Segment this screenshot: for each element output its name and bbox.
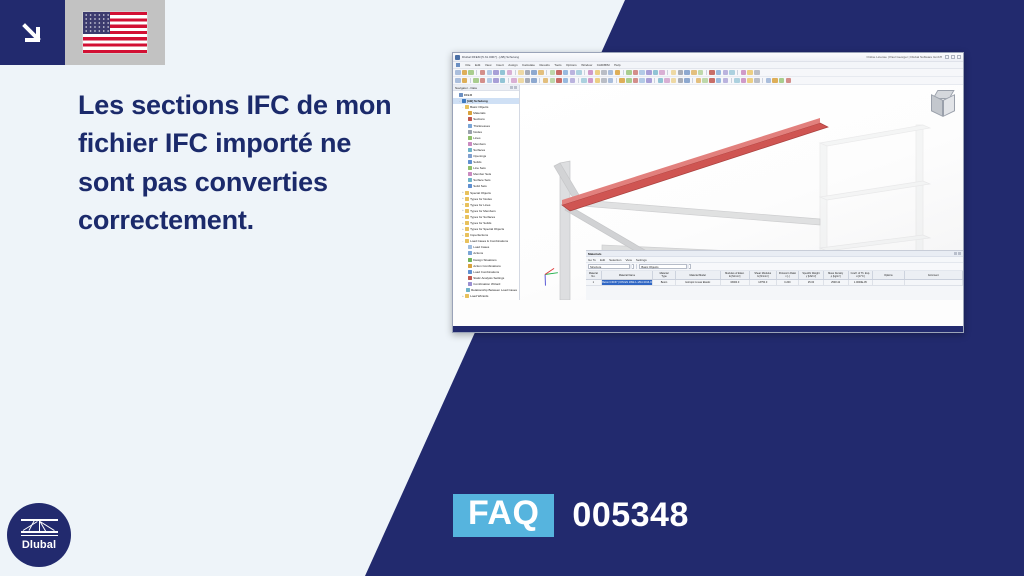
toolbar-button-34-icon[interactable] [709, 70, 715, 76]
toolbar-separator [654, 78, 655, 83]
column-header-2[interactable]: MaterialType [653, 271, 675, 279]
toolbar-button-1-icon[interactable] [455, 78, 461, 84]
view-cube-icon[interactable] [931, 90, 957, 116]
window-title: Dlubal RFEM [5.31.0007] - [AB] Schulung [462, 55, 519, 59]
table-header-row: MaterialNo.Material NameMaterialTypeMate… [586, 271, 963, 280]
toolbar-button-34-icon[interactable] [709, 78, 715, 84]
toolbar-button-29-icon[interactable] [671, 78, 677, 84]
tree-item-icon [465, 191, 469, 195]
object-type-select[interactable]: Basic Objects [639, 264, 691, 270]
toolbar-button-8-icon[interactable] [507, 70, 513, 76]
dlubal-logo: Dlubal [7, 503, 71, 567]
column-header-line1: Material Name [619, 274, 635, 277]
tree-item-label: Combination Wizard [473, 282, 500, 286]
toolbar-button-43-icon[interactable] [779, 78, 785, 84]
toolbar-button-28-icon[interactable] [664, 78, 670, 84]
table-cell[interactable]: 1.0000E-05 [849, 280, 874, 286]
toolbar-separator [578, 78, 579, 83]
toolbar-button-13-icon[interactable] [550, 70, 556, 76]
toolbar-button-2-icon[interactable] [462, 70, 468, 76]
toolbar-button-35-icon[interactable] [716, 78, 722, 84]
toolbar-separator [470, 78, 471, 83]
menu-insert[interactable]: Insert [496, 63, 504, 67]
toolbar-button-28-icon[interactable] [659, 70, 665, 76]
flag-graphic [83, 12, 147, 53]
toolbar-button-29-icon[interactable] [671, 70, 677, 76]
table-menu-view[interactable]: View [625, 258, 631, 262]
tree-item-label: Surfaces [473, 148, 485, 152]
tree-item-icon [468, 245, 472, 249]
toolbar-button-3-icon[interactable] [468, 70, 474, 76]
toolbar-button-12-icon[interactable] [538, 70, 544, 76]
column-header-6[interactable]: Poisson's Ratioν [-] [777, 271, 799, 279]
toolbar-button-40-icon[interactable] [754, 78, 760, 84]
tree-item-icon [468, 154, 472, 158]
table-toolbar[interactable]: Structure Basic Objects [586, 263, 963, 271]
toolbar-button-18-icon[interactable] [588, 78, 594, 84]
table-menu-settings[interactable]: Settings [636, 258, 647, 262]
table-row[interactable]: 1Beton C30/37 | DIN EN 1992-1-1/NA:2013-… [586, 280, 963, 286]
tree-item-icon [459, 93, 463, 97]
menu-window[interactable]: Window [581, 63, 592, 67]
chevron-down-icon[interactable] [629, 264, 632, 269]
tree-item-icon [468, 130, 472, 134]
toolbar-separator [706, 70, 707, 75]
toolbar-button-19-icon[interactable] [595, 78, 601, 84]
tree-item-label: Types for Surfaces [470, 215, 495, 219]
column-header-0[interactable]: MaterialNo. [586, 271, 602, 279]
tree-item-icon [468, 258, 472, 262]
toolbar-button-14-icon[interactable] [556, 78, 562, 84]
column-header-4[interactable]: Modulus of Elast.E [N/mm²] [721, 271, 750, 279]
column-header-1[interactable]: Material Name [602, 271, 654, 279]
tree-item-label: [AB] Schulung [467, 99, 488, 103]
table-cell[interactable]: Beton C30/37 | DIN EN 1992-1-1/NA:2013-0… [602, 280, 654, 286]
column-header-line2: ν [-] [785, 275, 789, 278]
faq-number: 005348 [572, 496, 688, 535]
toolbar-separator [539, 78, 540, 83]
menu-results[interactable]: Results [539, 63, 549, 67]
tree-item-label: Thicknesses [473, 124, 490, 128]
tree-item-icon [468, 117, 472, 121]
toolbar-button-8-icon[interactable] [511, 78, 517, 84]
toolbar-button-38-icon[interactable] [741, 70, 747, 76]
tree-item-label: Solids [473, 160, 481, 164]
toolbar-button-30-icon[interactable] [678, 70, 684, 76]
tree-item-icon [468, 282, 472, 286]
logo-text: Dlubal [22, 539, 56, 551]
menu-bar[interactable]: File Edit View Insert Assign Calculate R… [453, 62, 963, 69]
toolbar-button-5-icon[interactable] [487, 70, 493, 76]
menu-tools[interactable]: Tools [554, 63, 561, 67]
toolbar-button-16-icon[interactable] [570, 70, 576, 76]
tree-item-icon [465, 209, 469, 213]
faq-tag: FAQ [453, 494, 554, 537]
toolbar-button-11-icon[interactable] [531, 78, 537, 84]
toolbar-button-40-icon[interactable] [754, 70, 760, 76]
tree-item-label: Basic Objects [470, 105, 488, 109]
tree-item-icon [468, 178, 472, 182]
toolbar-button-33-icon[interactable] [698, 70, 704, 76]
panel-close-icon [514, 86, 517, 89]
model-icon [456, 63, 460, 67]
tree-item-label: Types for Special Objects [470, 227, 504, 231]
toolbar-button-15-icon[interactable] [563, 78, 569, 84]
table-menu-selection[interactable]: Selection [609, 258, 621, 262]
toolbar-button-31-icon[interactable] [684, 78, 690, 84]
table-pin-controls[interactable] [954, 252, 962, 255]
toolbar-button-2-icon[interactable] [462, 78, 468, 84]
tree-item-label: Sections [473, 117, 485, 121]
toolbar-button-22-icon[interactable] [619, 78, 625, 84]
tree-item-label: Action Combinations [473, 264, 501, 268]
navigator-pin-controls[interactable] [510, 86, 518, 89]
toolbar-button-25-icon[interactable] [639, 78, 645, 84]
tree-item-icon [468, 142, 472, 146]
structure-filter-select[interactable]: Structure [588, 264, 634, 270]
toolbar-button-37-icon[interactable] [729, 70, 735, 76]
tree-item-icon [468, 270, 472, 274]
toolbar-separator [762, 78, 763, 83]
toolbar-button-42-icon[interactable] [772, 78, 778, 84]
us-flag-icon [65, 0, 165, 65]
table-menu-goto[interactable]: Go To [588, 258, 596, 262]
toolbar-separator [476, 70, 477, 75]
tree-item-label: Line Sets [473, 166, 486, 170]
toolbar-separator [737, 70, 738, 75]
tree-item-label: Openings [473, 154, 486, 158]
truss-bridge-icon [21, 519, 58, 536]
tree-item-icon [465, 215, 469, 219]
toolbar-button-4-icon[interactable] [480, 78, 486, 84]
tree-item-label: Imperfections [470, 233, 488, 237]
maximize-button[interactable] [951, 55, 955, 59]
object-type-value: Basic Objects [641, 265, 658, 269]
window-controls[interactable] [945, 55, 961, 59]
table-menu-edit[interactable]: Edit [600, 258, 605, 262]
column-header-line2: γ [kN/m³] [806, 275, 816, 278]
column-header-line2: ρ [kg/m³] [831, 275, 841, 278]
tree-item-icon [468, 172, 472, 176]
coordinate-axes-icon [536, 258, 566, 288]
table-cell[interactable]: 25.00 [799, 280, 824, 286]
toolbar-separator [731, 78, 732, 83]
tree-item-label: Load Combinations [473, 270, 499, 274]
table-cell[interactable]: 1 [586, 280, 602, 286]
toolbar-button-20-icon[interactable] [601, 78, 607, 84]
navigator-tree[interactable]: RFEM-[AB] Schulung-Basic ObjectsMaterial… [453, 91, 519, 300]
tree-item-label: Surface Sets [473, 178, 490, 182]
tree-item-loads[interactable]: Loads [453, 299, 519, 300]
table-cell[interactable] [873, 280, 904, 286]
toolbar-separator [623, 70, 624, 75]
menu-assign[interactable]: Assign [508, 63, 517, 67]
toolbar-button-17-icon[interactable] [581, 78, 587, 84]
toolbar-button-36-icon[interactable] [723, 70, 729, 76]
toolbar-button-23-icon[interactable] [626, 78, 632, 84]
tree-item-icon [468, 276, 472, 280]
toolbar-button-11-icon[interactable] [531, 70, 537, 76]
toolbar-button-1-icon[interactable] [455, 70, 461, 76]
tree-item-label: Member Sets [473, 172, 491, 176]
tree-item-label: Actions [473, 251, 483, 255]
menu-options[interactable]: Options [566, 63, 577, 67]
toolbar-button-18-icon[interactable] [588, 70, 594, 76]
column-header-9[interactable]: Coeff. of Th. Exp.α [1/°C] [849, 271, 874, 279]
table-cell[interactable]: 33000.0 [721, 280, 750, 286]
toolbar-button-7-icon[interactable] [500, 70, 506, 76]
toolbar-button-32-icon[interactable] [696, 78, 702, 84]
toolbar-button-7-icon[interactable] [500, 78, 506, 84]
toolbar-button-14-icon[interactable] [556, 70, 562, 76]
tree-item-label: Special Objects [470, 191, 491, 195]
axis-z [544, 275, 546, 286]
toolbar-button-17-icon[interactable] [576, 70, 582, 76]
toolbar-button-32-icon[interactable] [691, 70, 697, 76]
toolbar-button-10-icon[interactable] [525, 78, 531, 84]
toolbar-button-15-icon[interactable] [563, 70, 569, 76]
menu-edit[interactable]: Edit [475, 63, 480, 67]
tree-item-label: Load Wizards [470, 294, 488, 298]
tree-item-label: Load Cases [473, 245, 489, 249]
tree-item-icon [465, 239, 469, 243]
toolbar-button-13-icon[interactable] [550, 78, 556, 84]
toolbar-button-9-icon[interactable] [518, 70, 524, 76]
tree-item-icon [468, 251, 472, 255]
status-bar [453, 326, 963, 332]
column-header-line1: Material Model [689, 274, 705, 277]
toolbar-button-25-icon[interactable] [639, 70, 645, 76]
toolbar-button-4-icon[interactable] [480, 70, 486, 76]
toolbar-separator [546, 70, 547, 75]
toolbar-button-36-icon[interactable] [723, 78, 729, 84]
toolbar-button-38-icon[interactable] [741, 78, 747, 84]
tree-item-icon [465, 294, 469, 298]
tree-item-label: Members [473, 142, 486, 146]
workspace: Navigator - Data RFEM-[AB] Schulung-Basi… [453, 85, 963, 300]
tree-item-label: RFEM [464, 93, 473, 97]
tree-item-label: Types for Lines [470, 203, 490, 207]
menu-calculate[interactable]: Calculate [522, 63, 535, 67]
toolbar-button-21-icon[interactable] [608, 78, 614, 84]
page-title: Les sections IFC de mon fichier IFC impo… [78, 86, 408, 239]
toolbar-separator [508, 78, 509, 83]
flag-canton [83, 12, 110, 34]
toolbar-button-5-icon[interactable] [487, 78, 493, 84]
table-cell[interactable]: 2548.42 [824, 280, 849, 286]
table-cell[interactable]: Beton [653, 280, 675, 286]
column-header-8[interactable]: Mass Densityρ [kg/m³] [824, 271, 849, 279]
panel-close-icon [958, 252, 961, 255]
navigator-title: Navigator - Data [455, 86, 477, 90]
toolbar-button-30-icon[interactable] [678, 78, 684, 84]
tree-item-label: Static Analysis Settings [473, 276, 504, 280]
tree-item-label: Types for Nodes [470, 197, 492, 201]
structure-filter-value: Structure [590, 265, 601, 269]
toolbar-button-3-icon[interactable] [473, 78, 479, 84]
toolbar-button-16-icon[interactable] [570, 78, 576, 84]
chevron-down-icon[interactable] [686, 264, 689, 269]
pin-icon [954, 252, 957, 255]
table-cell[interactable]: 0.200 [777, 280, 799, 286]
toolbar-button-44-icon[interactable] [786, 78, 792, 84]
tree-item-icon [468, 124, 472, 128]
column-header-line1: Options [884, 274, 893, 277]
tree-item-label: Types for Members [470, 209, 496, 213]
toolbar-separator [584, 70, 585, 75]
materials-table[interactable]: MaterialNo.Material NameMaterialTypeMate… [586, 271, 963, 300]
tree-item-label: Solid Sets [473, 184, 487, 188]
menu-view[interactable]: View [485, 63, 492, 67]
toolbar-button-33-icon[interactable] [702, 78, 708, 84]
navigator-panel[interactable]: Navigator - Data RFEM-[AB] Schulung-Basi… [453, 85, 520, 300]
tree-item-icon [465, 105, 469, 109]
tree-item-label: Design Situations [473, 258, 496, 262]
minimize-button[interactable] [945, 55, 949, 59]
toolbar-button-24-icon[interactable] [633, 78, 639, 84]
column-header-line2: E [N/mm²] [729, 275, 740, 278]
toolbar-button-27-icon[interactable] [658, 78, 664, 84]
toolbar-button-9-icon[interactable] [518, 78, 524, 84]
tree-item-icon [468, 184, 472, 188]
tree-item-label: Load Cases & Combinations [470, 239, 508, 243]
tree-item-icon [465, 227, 469, 231]
column-header-line1: Comment [928, 274, 939, 277]
toolbar-separator [616, 78, 617, 83]
column-header-7[interactable]: Specific Weightγ [kN/m³] [799, 271, 824, 279]
tree-item-icon [462, 99, 466, 103]
tree-item-icon [465, 221, 469, 225]
table-cell[interactable]: 13750.0 [750, 280, 777, 286]
toolbar-primary[interactable] [453, 69, 963, 77]
toolbar-button-23-icon[interactable] [626, 70, 632, 76]
rfem-application-window: Dlubal RFEM [5.31.0007] - [AB] Schulung … [452, 52, 964, 333]
column-header-11[interactable]: Comment [905, 271, 963, 279]
tree-item-icon [468, 111, 472, 115]
tree-item-label: Materials [473, 111, 485, 115]
tree-item-icon [468, 136, 472, 140]
toolbar-button-24-icon[interactable] [633, 70, 639, 76]
toolbar-button-35-icon[interactable] [716, 70, 722, 76]
arrow-down-right-icon [0, 0, 65, 65]
tree-item-icon [465, 233, 469, 237]
column-header-5[interactable]: Shear ModulusG [N/mm²] [750, 271, 777, 279]
toolbar-button-21-icon[interactable] [608, 70, 614, 76]
app-icon [455, 55, 460, 60]
table-cell[interactable] [905, 280, 963, 286]
toolbar-button-26-icon[interactable] [646, 78, 652, 84]
tree-item-icon [468, 264, 472, 268]
tree-item-label: Relationship Between Load Cases [471, 288, 517, 292]
tree-item-icon [468, 160, 472, 164]
column-header-line2: α [1/°C] [856, 275, 864, 278]
toolbar-button-12-icon[interactable] [543, 78, 549, 84]
tree-item-label: Types for Solids [470, 221, 491, 225]
toolbar-separator [515, 70, 516, 75]
toolbar-button-41-icon[interactable] [766, 78, 772, 84]
tree-item-icon [466, 288, 470, 292]
tree-item-icon [468, 166, 472, 170]
table-cell[interactable]: Isotropic Linear Elastic [676, 280, 721, 286]
toolbar-button-22-icon[interactable] [615, 70, 621, 76]
menu-cad-bim[interactable]: CAD/BIM [597, 63, 610, 67]
tree-item-icon [465, 203, 469, 207]
tree-item-icon [465, 197, 469, 201]
toolbar-separator [692, 78, 693, 83]
column-header-line2: Type [661, 275, 666, 278]
close-button[interactable] [957, 55, 961, 59]
toolbar-button-20-icon[interactable] [601, 70, 607, 76]
toolbar-button-19-icon[interactable] [595, 70, 601, 76]
menu-help[interactable]: Help [614, 63, 620, 67]
toolbar-button-27-icon[interactable] [653, 70, 659, 76]
tree-item-label: Nodes [473, 130, 482, 134]
header-bar [0, 0, 165, 65]
license-label: Online License | Paul Georger | Dlubal S… [866, 55, 942, 59]
toolbar-button-31-icon[interactable] [684, 70, 690, 76]
materials-table-panel[interactable]: Materials Go To Edit Selection View Sett… [586, 250, 963, 300]
column-header-10[interactable]: Options [873, 271, 904, 279]
window-title-bar: Dlubal RFEM [5.31.0007] - [AB] Schulung … [453, 53, 963, 62]
toolbar-button-39-icon[interactable] [747, 70, 753, 76]
pin-icon [510, 86, 513, 89]
tree-item-icon [468, 148, 472, 152]
toolbar-button-26-icon[interactable] [646, 70, 652, 76]
toolbar-secondary[interactable] [453, 77, 963, 85]
column-header-3[interactable]: Material Model [676, 271, 721, 279]
tree-item-label: Lines [473, 136, 480, 140]
faq-badge-row: FAQ 005348 [453, 494, 689, 537]
table-title: Materials [588, 252, 601, 256]
column-header-line2: No. [591, 275, 595, 278]
menu-file[interactable]: File [466, 63, 471, 67]
toolbar-button-39-icon[interactable] [747, 78, 753, 84]
column-header-line2: G [N/mm²] [757, 275, 769, 278]
toolbar-separator [667, 70, 668, 75]
toolbar-button-6-icon[interactable] [493, 70, 499, 76]
toolbar-button-6-icon[interactable] [493, 78, 499, 84]
model-viewport[interactable]: IFC Model Object No. 1 Materials Go [520, 85, 963, 300]
toolbar-button-10-icon[interactable] [525, 70, 531, 76]
toolbar-button-37-icon[interactable] [734, 78, 740, 84]
flag-stars [84, 13, 109, 33]
